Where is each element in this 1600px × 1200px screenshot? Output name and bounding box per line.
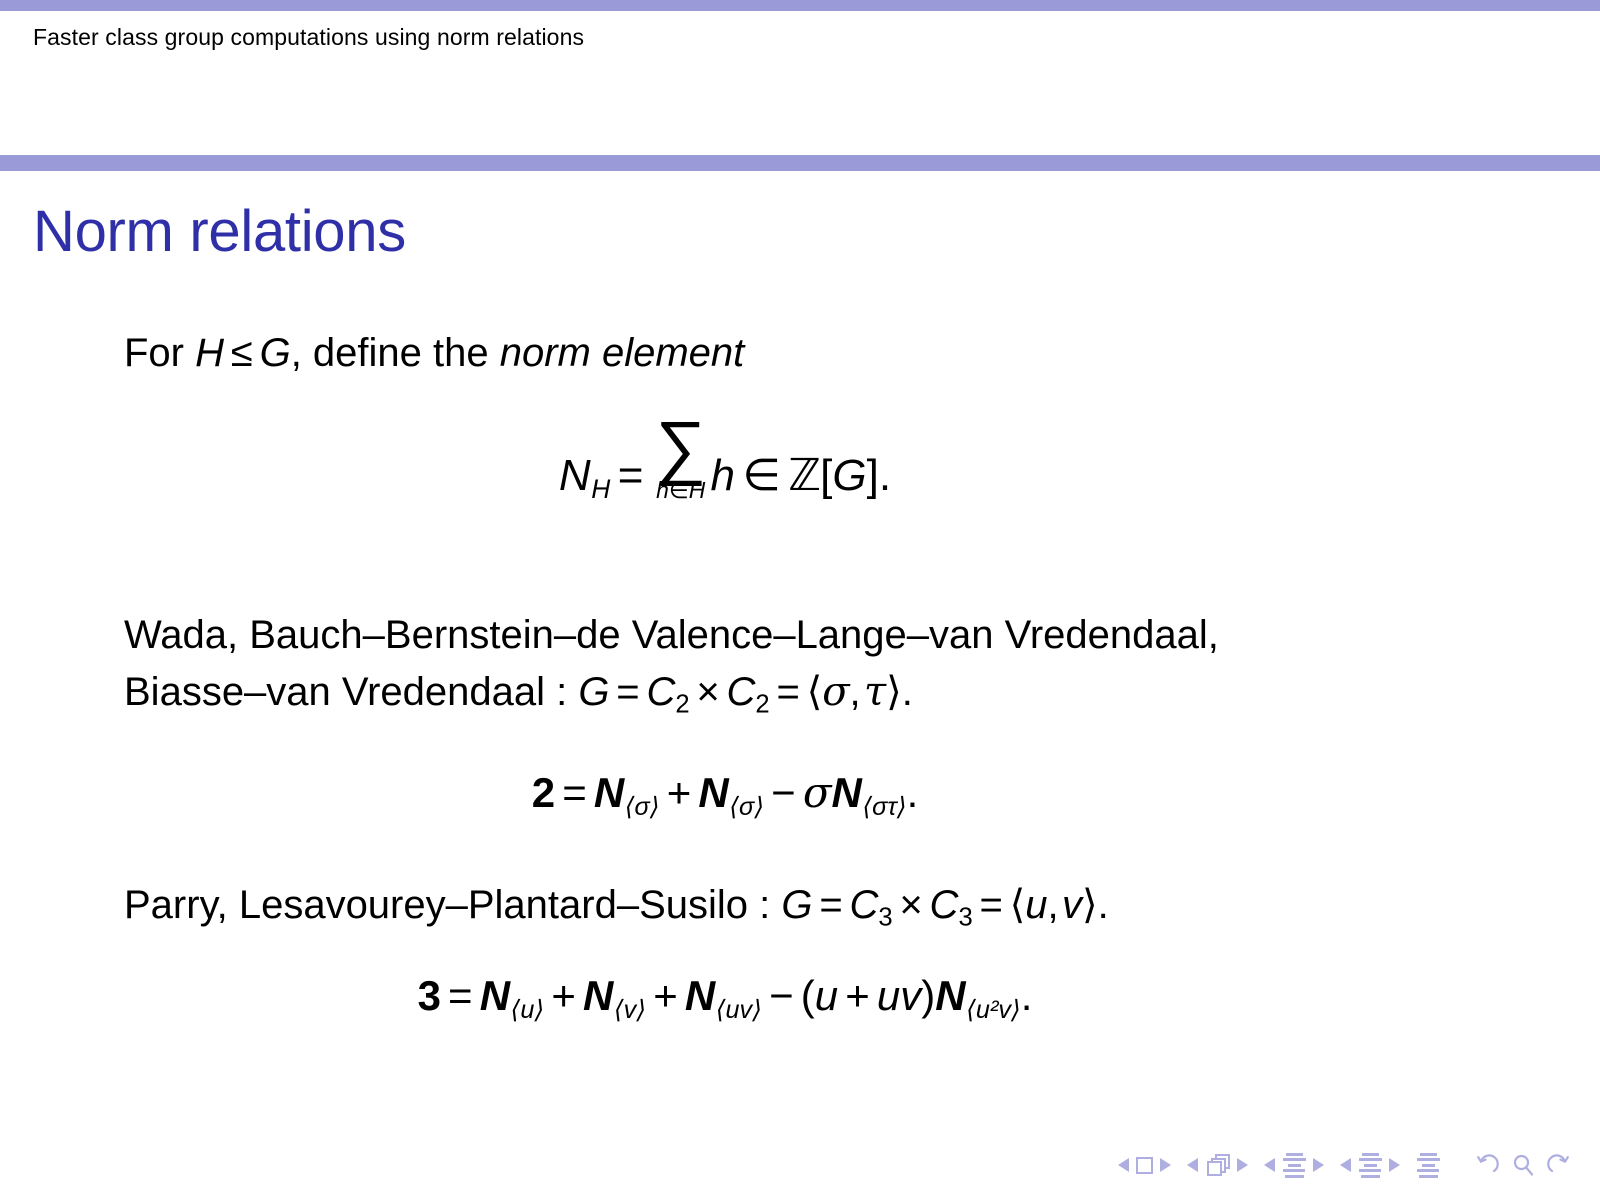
cit1-angle-close: ⟩ [886,669,902,715]
intro-relation: ≤ [224,331,260,375]
eq3-coef-uv: uv [877,972,921,1019]
eq1-bracket-close: ] [867,451,879,500]
eq3-term3-symbol: N [685,972,715,1019]
cit1-generator-sep: , [850,670,861,714]
cit1-cyclic-2-order: 2 [755,691,769,719]
cit2-cyclic-order: 3 [878,904,892,932]
cit2-period: . [1098,883,1109,927]
eq1-bracket-open: [ [820,451,832,500]
cit2-generator-v: v [1062,883,1082,927]
equation-c2-relation: 2=N⟨σ⟩+N⟨σ⟩−σN⟨στ⟩. [0,768,1450,822]
cit1-period: . [902,670,913,714]
eq1-member: ∈ [735,451,788,500]
eq2-term1-symbol: N [594,769,624,816]
eq3-term1-symbol: N [480,972,510,1019]
intro-sentence: For H≤G, define the norm element [124,325,744,382]
eq1-equals: = [610,451,651,500]
cit1-generator-tau: τ [864,669,886,715]
eq1-period: . [879,451,891,500]
summation: ∑h∈H [655,418,706,502]
eq3-plus-2: + [646,972,685,1019]
eq2-term3-symbol: N [831,769,861,816]
eq3-term4-symbol: N [935,972,965,1019]
nav-group-subsection[interactable] [1264,1153,1324,1178]
nav-group-section[interactable] [1340,1153,1400,1178]
previous-section-icon[interactable] [1340,1158,1351,1172]
cit1-cyclic-2: C [727,670,756,714]
previous-slide-icon[interactable] [1187,1158,1198,1172]
eq3-coef-u: u [815,972,838,1019]
cit2-times: × [893,883,930,927]
intro-mid: , define the [291,331,500,375]
eq2-term2-sub: ⟨σ⟩ [729,793,764,821]
eq3-period: . [1021,972,1033,1019]
eq2-plus-1: + [660,769,699,816]
eq3-minus: − [762,972,801,1019]
cit2-cyclic-2: C [930,883,959,927]
nav-group-frame[interactable] [1118,1157,1171,1174]
forward-icon[interactable] [1546,1152,1572,1178]
eq1-lhs-symbol: N [559,451,591,500]
eq1-lhs-sub: H [591,474,611,504]
equation-norm-element: NH=∑h∈Hh∈ℤ[G]. [0,418,1450,505]
eq2-minus: − [764,769,803,816]
eq3-term2-symbol: N [583,972,613,1019]
next-subsection-icon[interactable] [1313,1158,1324,1172]
next-frame-icon[interactable] [1160,1158,1171,1172]
cit1-group: G [578,670,609,714]
cit2-equals-2: = [973,883,1010,927]
eq2-term1-sub: ⟨σ⟩ [624,793,659,821]
cit2-generator-u: u [1025,883,1047,927]
section-lines-icon[interactable] [1358,1153,1382,1178]
intro-emph: norm element [500,331,745,375]
intro-var-h: H [195,331,224,375]
cit2-equals-1: = [813,883,850,927]
cit1-cyclic-order: 2 [675,691,689,719]
cit1-cyclic: C [646,670,675,714]
cit2-angle-open: ⟨ [1010,882,1026,928]
subsection-lines-icon[interactable] [1282,1153,1306,1178]
nav-group-history[interactable] [1474,1152,1572,1178]
previous-frame-icon[interactable] [1118,1158,1129,1172]
eq3-plus-1: + [544,972,583,1019]
eq2-equals: = [555,769,594,816]
cit1-equals-1: = [610,670,647,714]
back-icon[interactable] [1474,1152,1500,1178]
beamer-navigation-bar[interactable] [1118,1152,1572,1178]
nav-group-slide[interactable] [1187,1154,1248,1176]
previous-subsection-icon[interactable] [1264,1158,1275,1172]
eq2-period: . [907,769,919,816]
intro-pre: For [124,331,195,375]
eq1-group: G [832,451,866,500]
cit1-pre: Biasse–van Vredendaal : [124,670,578,714]
eq1-ring: ℤ [788,450,820,501]
intro-var-g: G [260,331,291,375]
eq3-lhs: 3 [418,972,441,1019]
eq3-equals: = [441,972,480,1019]
nav-group-document[interactable] [1416,1153,1440,1178]
cit2-group: G [781,883,812,927]
eq3-term1-sub: ⟨u⟩ [510,996,544,1024]
eq2-lhs: 2 [532,769,555,816]
sum-limit: h∈H [655,479,706,502]
eq3-term3-sub: ⟨uv⟩ [715,996,762,1024]
current-frame-icon[interactable] [1136,1157,1153,1174]
eq3-term4-sub: ⟨u²v⟩ [966,996,1021,1024]
next-section-icon[interactable] [1389,1158,1400,1172]
slide-body: For H≤G, define the norm element NH=∑h∈H… [0,0,1600,1200]
citation-1-line-1: Wada, Bauch–Bernstein–de Valence–Lange–v… [124,607,1219,664]
eq3-term2-sub: ⟨v⟩ [613,996,646,1024]
equation-c3-relation: 3=N⟨u⟩+N⟨v⟩+N⟨uv⟩−(u+uv)N⟨u²v⟩. [0,972,1450,1025]
cit2-pre: Parry, Lesavourey–Plantard–Susilo : [124,883,781,927]
eq3-coef-plus: + [838,972,877,1019]
eq2-term3-sub: ⟨στ⟩ [862,793,907,821]
eq2-term2-symbol: N [698,769,728,816]
document-lines-icon[interactable] [1416,1153,1440,1178]
eq3-paren-open: ( [801,972,815,1019]
cit2-cyclic-2-order: 3 [958,904,972,932]
cit1-angle-open: ⟨ [807,669,823,715]
eq3-paren-close: ) [921,972,935,1019]
cit2-generator-sep: , [1047,883,1058,927]
cit1-generator-sigma: σ [822,669,849,715]
citation-1-line-2: Biasse–van Vredendaal : G=C2×C2=⟨σ, τ⟩. [124,664,913,723]
search-icon[interactable] [1510,1152,1536,1178]
next-slide-icon[interactable] [1237,1158,1248,1172]
eq1-summand: h [711,451,735,500]
cit2-angle-close: ⟩ [1082,882,1098,928]
cit1-equals-2: = [770,670,807,714]
cit1-times: × [690,670,727,714]
slides-stack-icon[interactable] [1205,1154,1230,1176]
eq2-coefficient-sigma: σ [803,768,832,817]
sum-symbol: ∑ [655,418,706,476]
citation-2: Parry, Lesavourey–Plantard–Susilo : G=C3… [124,877,1109,936]
cit2-cyclic: C [849,883,878,927]
